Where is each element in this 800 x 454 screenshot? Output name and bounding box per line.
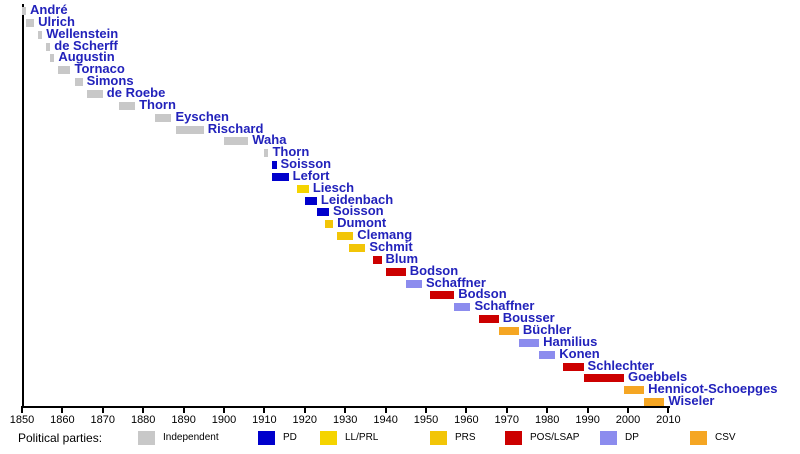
x-axis-tick-label: 1970	[495, 414, 519, 426]
legend-label-pos_lsap: POS/LSAP	[530, 432, 579, 443]
legend-swatch-independent	[138, 431, 155, 445]
legend-label-independent: Independent	[163, 432, 219, 443]
x-axis-tick-label: 1860	[50, 414, 74, 426]
x-axis-tick-label: 1990	[575, 414, 599, 426]
x-axis-tick-label: 1960	[454, 414, 478, 426]
x-axis-tick-label: 1910	[252, 414, 276, 426]
legend-swatch-csv	[690, 431, 707, 445]
timeline-row: Wiseler	[0, 393, 800, 410]
x-axis-tick-label: 1850	[10, 414, 34, 426]
term-bar[interactable]	[644, 398, 664, 406]
x-axis-tick-label: 2000	[616, 414, 640, 426]
plot-area: 1850186018701880189019001910192019301940…	[0, 0, 800, 412]
legend: Political parties: IndependentPDLL/PRLPR…	[0, 428, 800, 454]
x-axis-tick-label: 1920	[293, 414, 317, 426]
x-axis-tick-label: 1980	[535, 414, 559, 426]
legend-swatch-prs	[430, 431, 447, 445]
legend-swatch-dp	[600, 431, 617, 445]
legend-label-csv: CSV	[715, 432, 736, 443]
x-axis-tick-label: 1940	[373, 414, 397, 426]
legend-swatch-ll_prl	[320, 431, 337, 445]
legend-label-prs: PRS	[455, 432, 476, 443]
x-axis-tick-label: 1900	[212, 414, 236, 426]
x-axis-tick-label: 1890	[171, 414, 195, 426]
legend-title: Political parties:	[18, 431, 102, 445]
legend-label-dp: DP	[625, 432, 639, 443]
x-axis-tick-label: 1870	[91, 414, 115, 426]
x-axis-tick-label: 1950	[414, 414, 438, 426]
term-label: Wiseler	[668, 393, 714, 409]
legend-swatch-pos_lsap	[505, 431, 522, 445]
legend-swatch-pd	[258, 431, 275, 445]
legend-label-ll_prl: LL/PRL	[345, 432, 378, 443]
x-axis-tick-label: 1880	[131, 414, 155, 426]
legend-label-pd: PD	[283, 432, 297, 443]
x-axis-tick-label: 2010	[656, 414, 680, 426]
timeline-chart: 1850186018701880189019001910192019301940…	[0, 0, 800, 454]
x-axis-tick-label: 1930	[333, 414, 357, 426]
